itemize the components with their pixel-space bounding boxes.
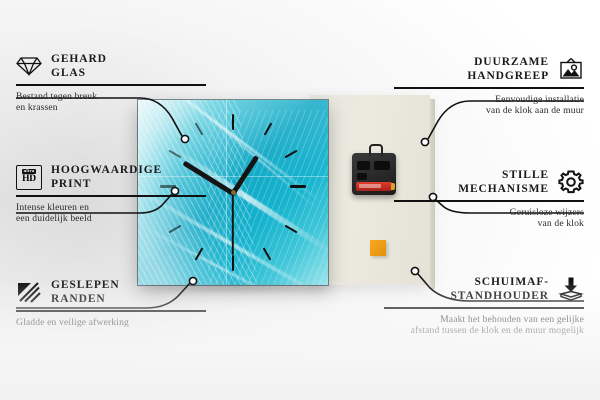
feature-hoogwaardige-print: ultra HD HOOGWAARDIGE PRINT Intense kleu… <box>16 163 206 225</box>
feature-subtitle-line2: van de klok aan de muur <box>486 105 584 116</box>
feature-geslepen-randen: GESLEPEN RANDEN Gladde en veilige afwerk… <box>16 278 206 328</box>
feature-title-line1: STILLE <box>502 169 549 181</box>
feature-header: GEHARD GLAS <box>16 52 206 80</box>
feature-title: DUURZAME HANDGREEP <box>467 55 549 83</box>
feature-title-line2: HANDGREEP <box>467 70 549 82</box>
divider <box>394 87 584 89</box>
spacer-pad-icon <box>558 277 584 301</box>
feature-title: SCHUIMAF- STANDHOUDER <box>450 275 549 303</box>
feature-title: STILLE MECHANISME <box>458 168 549 196</box>
feature-subtitle: Geruisloze wijzers van de klok <box>394 207 584 230</box>
foam-spacer-pad <box>370 240 386 256</box>
second-hand <box>232 193 234 255</box>
feature-title-line2: GLAS <box>51 67 86 79</box>
hour-tick <box>232 255 234 271</box>
feature-subtitle-line2: afstand tussen de klok en de muur mogeli… <box>411 325 584 336</box>
feature-subtitle-line1: Gladde en veilige afwerking <box>16 317 129 328</box>
feature-duurzame-handgreep: DUURZAME HANDGREEP Eenvoudige installati… <box>394 55 584 117</box>
feature-subtitle: Gladde en veilige afwerking <box>16 317 206 329</box>
feature-title-line1: HOOGWAARDIGE <box>51 164 162 176</box>
hour-tick <box>232 114 234 130</box>
feature-header: STILLE MECHANISME <box>394 168 584 196</box>
feature-title-line2: PRINT <box>51 178 91 190</box>
feature-subtitle-line1: Bestand tegen breuk <box>16 91 97 102</box>
feature-title: GESLEPEN RANDEN <box>51 278 120 306</box>
hd-badge: ultra HD <box>16 165 42 190</box>
beveled-edges-icon <box>16 280 42 304</box>
feature-title-line2: STANDHOUDER <box>450 290 549 302</box>
hd-badge-hd: HD <box>22 175 36 185</box>
feature-header: SCHUIMAF- STANDHOUDER <box>384 275 584 303</box>
feature-subtitle-line1: Maakt het behouden van een gelijke <box>440 314 584 325</box>
mechanism-detail <box>374 161 390 170</box>
divider <box>384 307 584 309</box>
feature-title-line1: SCHUIMAF- <box>474 276 549 288</box>
feature-title-line1: GEHARD <box>51 53 107 65</box>
feature-title-line1: GESLEPEN <box>51 279 120 291</box>
feature-header: DUURZAME HANDGREEP <box>394 55 584 83</box>
diamond-icon <box>16 54 42 78</box>
feature-subtitle-line1: Geruisloze wijzers <box>510 207 584 218</box>
divider <box>394 200 584 202</box>
feature-subtitle-line1: Intense kleuren en <box>16 202 89 213</box>
battery <box>356 182 392 191</box>
gear-icon <box>558 170 584 194</box>
feature-stille-mechanisme: STILLE MECHANISME Geruisloze wijzers van… <box>394 168 584 230</box>
hanger-loop <box>369 144 383 156</box>
clock-center-hub <box>231 190 236 195</box>
feature-subtitle: Bestand tegen breuk en krassen <box>16 91 206 114</box>
feature-subtitle-line1: Eenvoudige installatie <box>495 94 584 105</box>
picture-frame-icon <box>558 57 584 81</box>
divider <box>16 310 206 312</box>
feature-title: HOOGWAARDIGE PRINT <box>51 163 162 191</box>
feature-gehard-glas: GEHARD GLAS Bestand tegen breuk en krass… <box>16 52 206 114</box>
feature-subtitle: Maakt het behouden van een gelijke afsta… <box>384 314 584 337</box>
divider <box>16 195 206 197</box>
divider <box>16 84 206 86</box>
feature-title: GEHARD GLAS <box>51 52 107 80</box>
hour-tick <box>290 185 306 188</box>
mechanism-detail <box>357 161 370 170</box>
feature-title-line1: DUURZAME <box>474 56 549 68</box>
feature-subtitle: Eenvoudige installatie van de klok aan d… <box>394 94 584 117</box>
feature-title-line2: RANDEN <box>51 293 106 305</box>
clock-movement-mechanism <box>352 153 396 195</box>
feature-schuimafstandhouder: SCHUIMAF- STANDHOUDER Maakt het behouden… <box>384 275 584 337</box>
feature-subtitle-line2: een duidelijk beeld <box>16 213 92 224</box>
feature-subtitle: Intense kleuren en een duidelijk beeld <box>16 202 206 225</box>
feature-title-line2: MECHANISME <box>458 183 549 195</box>
mechanism-detail <box>357 173 367 180</box>
feature-header: GESLEPEN RANDEN <box>16 278 206 306</box>
feature-subtitle-line2: en krassen <box>16 102 58 113</box>
ultra-hd-icon: ultra HD <box>16 165 42 189</box>
product-infographic: GEHARD GLAS Bestand tegen breuk en krass… <box>0 0 600 400</box>
battery-label <box>359 184 381 188</box>
feature-subtitle-line2: van de klok <box>538 218 584 229</box>
feature-header: ultra HD HOOGWAARDIGE PRINT <box>16 163 206 191</box>
